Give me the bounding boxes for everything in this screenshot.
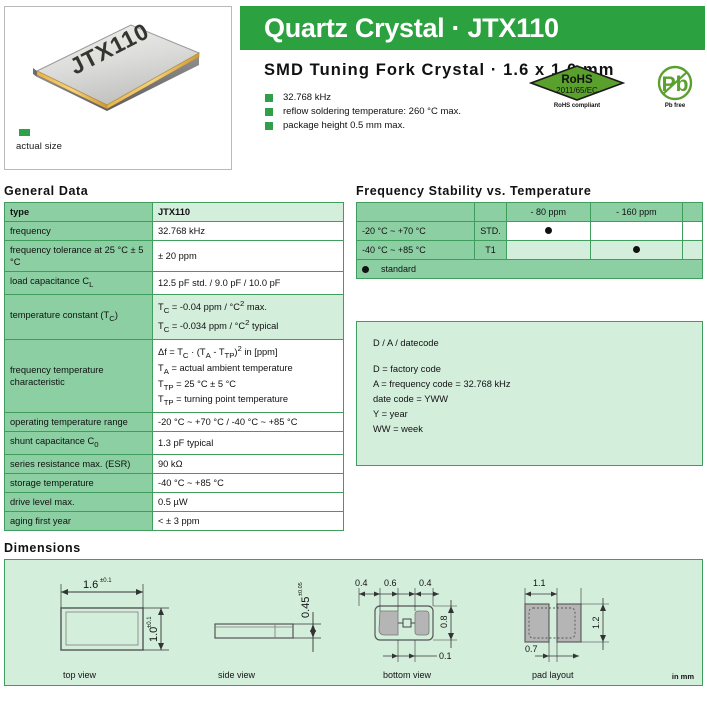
header-cell-blank [357,203,475,222]
table-row: load capacitance CL12.5 pF std. / 9.0 pF… [5,272,344,295]
bullet-square-icon [265,122,273,130]
side-view-drawing: 0.45 ±0.05 [203,566,333,666]
table-row: typeJTX110 [5,203,344,222]
row-value: 1.3 pF typical [153,432,344,455]
temp-range-cell: -40 °C ~ +85 °C [357,241,475,260]
svg-text:0.45: 0.45 [300,597,312,618]
frequency-stability-title: Frequency Stability vs. Temperature [356,184,703,198]
stability-mark-cell [683,222,703,241]
row-value: -20 °C ~ +70 °C / -40 °C ~ +85 °C [153,413,344,432]
bullet-text: reflow soldering temperature: 260 °C max… [283,106,461,117]
table-row: frequency tolerance at 25 °C ± 5 °C± 20 … [5,241,344,272]
table-row: shunt capacitance C01.3 pF typical [5,432,344,455]
stability-mark-cell [590,222,683,241]
table-row: -40 °C ~ +85 °CT1 [357,241,703,260]
stability-mark-cell [507,241,591,260]
product-photo-panel: JTX110 actual size [4,6,232,170]
general-data-title: General Data [4,184,344,198]
row-label: storage temperature [5,474,153,493]
row-value: 0.5 µW [153,493,344,512]
rohs-caption: RoHS compliant [529,103,625,109]
row-label: load capacitance CL [5,272,153,295]
svg-text:0.1: 0.1 [439,651,452,661]
frequency-stability-table: - 80 ppm- 160 ppm-20 °C ~ +70 °CSTD.-40 … [356,202,703,279]
table-row: frequency32.768 kHz [5,222,344,241]
row-label: drive level max. [5,493,153,512]
standard-dot-icon [633,246,640,253]
svg-text:0.6: 0.6 [384,578,397,588]
side-view-caption: side view [218,670,255,680]
bottom-view-drawing: 0.4 0.6 0.4 0.8 0.1 [353,566,483,671]
table-row: aging first year< ± 3 ppm [5,512,344,531]
datecode-line: Y = year [373,407,686,422]
svg-text:0.8: 0.8 [439,616,449,629]
top-view-caption: top view [63,670,96,680]
stability-mark-cell [507,222,591,241]
pad-layout-caption: pad layout [532,670,574,680]
table-row: temperature constant (TC)TC = -0.04 ppm … [5,294,344,339]
svg-text:0.4: 0.4 [355,578,368,588]
row-value: -40 °C ~ +85 °C [153,474,344,493]
table-header-row: - 80 ppm- 160 ppm [357,203,703,222]
table-row: storage temperature-40 °C ~ +85 °C [5,474,344,493]
row-value: 12.5 pF std. / 9.0 pF / 10.0 pF [153,272,344,295]
pad-layout-drawing: 1.1 1.2 0.7 [505,566,645,671]
standard-dot-icon [362,266,369,273]
table-row: series resistance max. (ESR)90 kΩ [5,455,344,474]
rohs-diamond-icon: RoHS 2011/65/EC [529,64,625,102]
svg-text:0.7: 0.7 [525,644,538,654]
svg-text:1.1: 1.1 [533,578,546,588]
standard-dot-icon [545,227,552,234]
row-label: temperature constant (TC) [5,294,153,339]
table-row: frequency temperature characteristicΔf =… [5,339,344,413]
svg-text:0.4: 0.4 [419,578,432,588]
header-cell-160ppm: - 160 ppm [590,203,683,222]
page-header: JTX110 actual size Quartz Crystal · JTX1… [0,0,707,178]
rohs-badge: RoHS 2011/65/EC RoHS compliant [529,64,625,109]
top-view-drawing: 1.6 ±0.1 1.0 ±0.1 [43,566,193,666]
row-label: shunt capacitance C0 [5,432,153,455]
datecode-legend-box: D / A / datecode D = factory codeA = fre… [356,321,703,466]
grade-code-cell: T1 [475,241,507,260]
row-value: TC = -0.04 ppm / °C2 max.TC = -0.034 ppm… [153,294,344,339]
row-value: Δf = TC · (TA - TTP)2 in [ppm]TA = actua… [153,339,344,413]
grade-code-cell: STD. [475,222,507,241]
table-row: operating temperature range-20 °C ~ +70 … [5,413,344,432]
bottom-view-caption: bottom view [383,670,431,680]
row-value: JTX110 [153,203,344,222]
unit-note: in mm [672,672,694,681]
row-label: frequency temperature characteristic [5,339,153,413]
datecode-heading: D / A / datecode [373,336,686,351]
general-data-table: typeJTX110frequency32.768 kHzfrequency t… [4,202,344,531]
header-content: Quartz Crystal · JTX110 SMD Tuning Fork … [240,6,707,178]
header-cell-80ppm: - 80 ppm [507,203,591,222]
page-title: Quartz Crystal · JTX110 [264,13,559,44]
list-item: package height 0.5 mm max. [265,120,707,131]
legend-cell: standard [357,260,703,279]
dimensions-drawing-box: 1.6 ±0.1 1.0 ±0.1 top view 0.45 ±0.05 si… [4,559,703,686]
bullet-text: 32.768 kHz [283,92,331,103]
crystal-photo: JTX110 [23,19,213,111]
row-value: 32.768 kHz [153,222,344,241]
frequency-stability-section: Frequency Stability vs. Temperature - 80… [356,184,703,531]
svg-text:±0.05: ±0.05 [298,582,304,596]
pb-free-icon: Pb [651,64,699,102]
stability-mark-cell [683,241,703,260]
pb-free-badge: Pb Pb free [651,64,699,109]
row-label: type [5,203,153,222]
main-content: General Data typeJTX110frequency32.768 k… [0,178,707,531]
svg-text:±0.1: ±0.1 [147,616,153,628]
temp-range-cell: -20 °C ~ +70 °C [357,222,475,241]
actual-size-swatch [19,129,30,136]
dimensions-title: Dimensions [4,541,703,555]
bullet-text: package height 0.5 mm max. [283,120,405,131]
row-value: 90 kΩ [153,455,344,474]
row-label: operating temperature range [5,413,153,432]
row-value: < ± 3 ppm [153,512,344,531]
bullet-square-icon [265,94,273,102]
header-cell-empty [683,203,703,222]
datecode-line: D = factory code [373,362,686,377]
pb-free-caption: Pb free [651,103,699,109]
datecode-line: WW = week [373,422,686,437]
datecode-line: date code = YWW [373,392,686,407]
dimensions-section: Dimensions 1.6 ±0.1 1.0 ±0.1 top view [0,531,707,686]
table-row: drive level max.0.5 µW [5,493,344,512]
actual-size-label: actual size [16,141,62,152]
general-data-section: General Data typeJTX110frequency32.768 k… [4,184,344,531]
row-label: series resistance max. (ESR) [5,455,153,474]
svg-text:±0.1: ±0.1 [100,578,112,584]
table-legend-row: standard [357,260,703,279]
header-cell-blank [475,203,507,222]
row-label: frequency [5,222,153,241]
svg-text:RoHS: RoHS [561,74,593,86]
row-label: frequency tolerance at 25 °C ± 5 °C [5,241,153,272]
bullet-square-icon [265,108,273,116]
table-row: -20 °C ~ +70 °CSTD. [357,222,703,241]
svg-text:2011/65/EC: 2011/65/EC [556,86,598,95]
stability-mark-cell [590,241,683,260]
svg-text:1.6: 1.6 [83,579,98,591]
svg-text:1.0: 1.0 [148,627,160,642]
svg-text:1.2: 1.2 [591,617,601,630]
row-label: aging first year [5,512,153,531]
compliance-badges: RoHS 2011/65/EC RoHS compliant Pb Pb fre… [529,64,699,109]
title-bar: Quartz Crystal · JTX110 [240,6,705,50]
datecode-line: A = frequency code = 32.768 kHz [373,377,686,392]
row-value: ± 20 ppm [153,241,344,272]
